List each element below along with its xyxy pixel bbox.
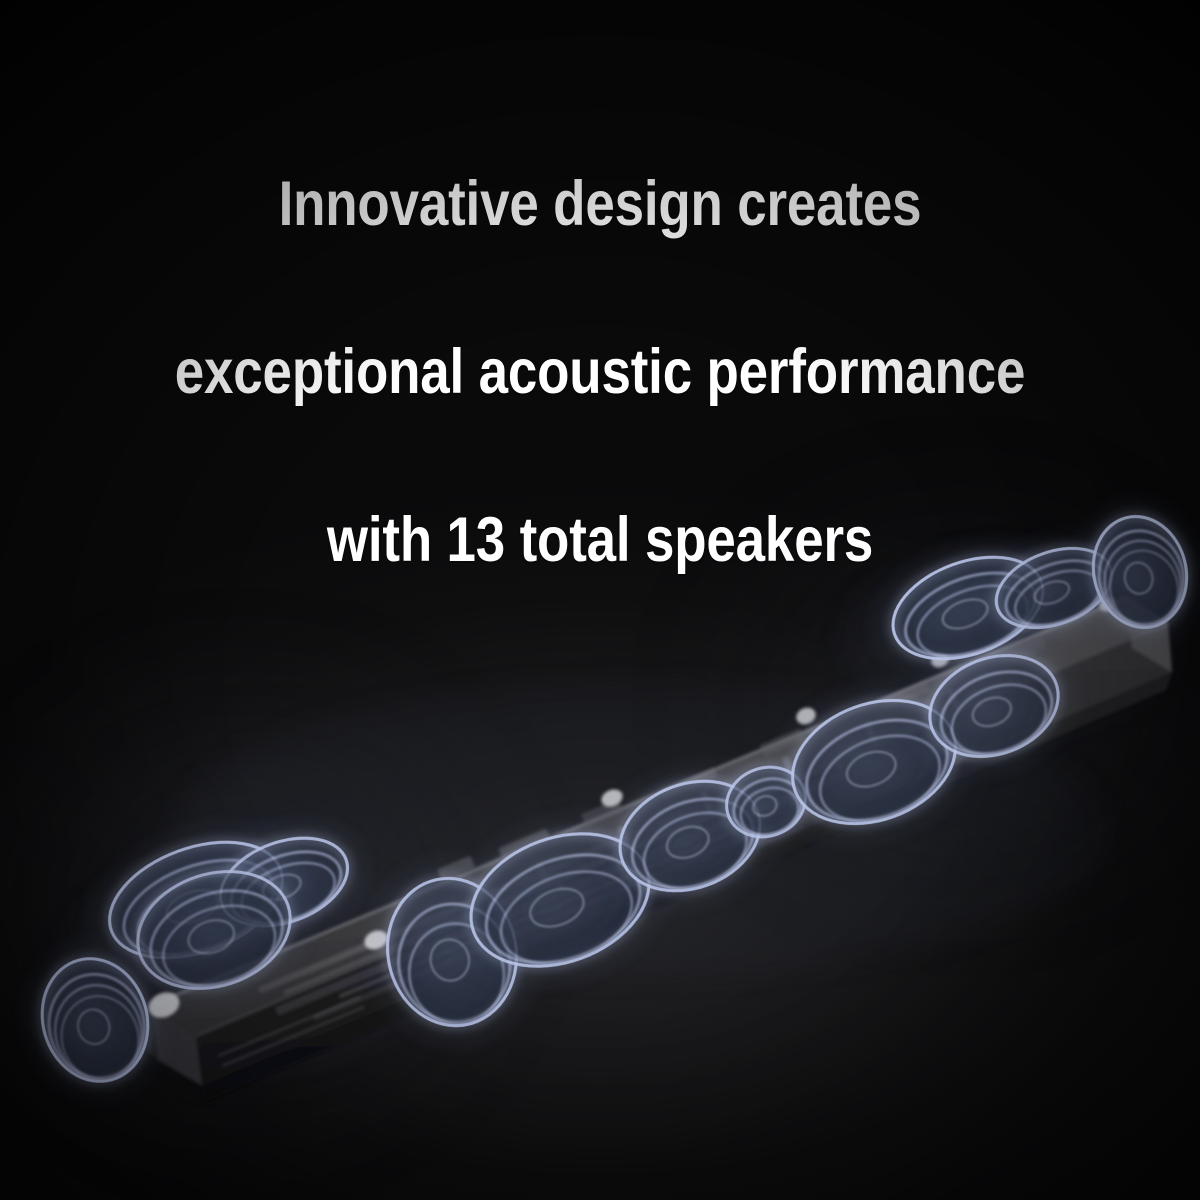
headline-line-2: exceptional acoustic performance xyxy=(96,330,1104,414)
headline-line-3: with 13 total speakers xyxy=(96,498,1104,582)
feature-panel: Innovative design creates exceptional ac… xyxy=(0,0,1200,1200)
headline-line-1: Innovative design creates xyxy=(96,162,1104,246)
page-title: Innovative design creates exceptional ac… xyxy=(96,78,1104,666)
